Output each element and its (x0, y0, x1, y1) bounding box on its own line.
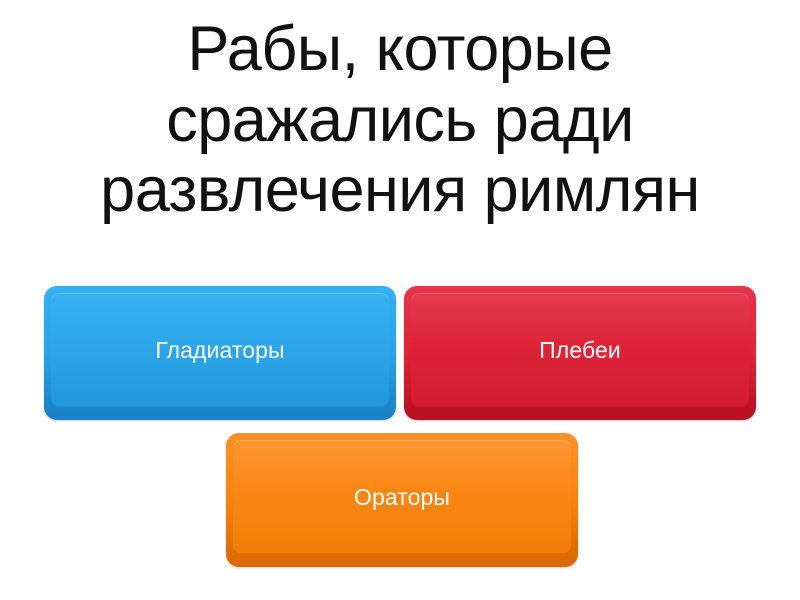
answer-options-group: Гладиаторы Плебеи Ораторы (0, 0, 800, 600)
answer-option-3-label: Ораторы (342, 484, 462, 510)
answer-option-1-face: Гладиаторы (51, 293, 389, 407)
answer-option-3[interactable]: Ораторы (226, 433, 578, 567)
answer-option-2-label: Плебеи (527, 337, 633, 363)
quiz-screen: Рабы, которые сражались ради развлечения… (0, 0, 800, 600)
answer-option-1-label: Гладиаторы (143, 337, 296, 363)
answer-option-3-face: Ораторы (233, 440, 571, 554)
answer-option-2[interactable]: Плебеи (404, 286, 756, 420)
answer-option-1[interactable]: Гладиаторы (44, 286, 396, 420)
answer-option-2-face: Плебеи (411, 293, 749, 407)
